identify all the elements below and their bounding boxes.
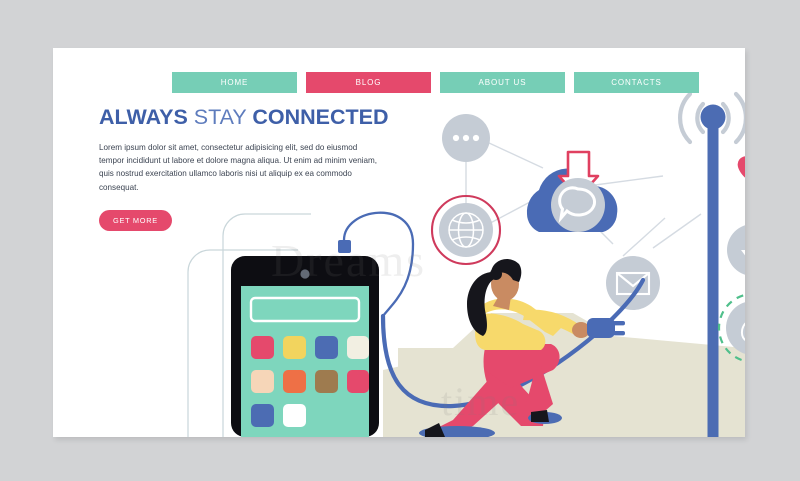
heart-icon [738,156,745,183]
page-title: ALWAYS STAY CONNECTED [99,106,389,129]
nav-item-about-us[interactable]: ABOUT US [440,72,565,93]
get-more-button[interactable]: GET MORE [99,210,172,231]
nav-item-blog[interactable]: BLOG [306,72,431,93]
power-plug-icon [587,318,625,338]
headline-always: ALWAYS [99,105,194,129]
hero-body-text: Lorem ipsum dolor sit amet, consectetur … [99,141,384,193]
smartphone [231,256,379,437]
headline-stay: STAY [194,105,253,129]
headline-connected: CONNECTED [252,105,388,129]
envelope-icon [606,256,660,310]
dots-icon [442,114,490,162]
user-download-icon [727,224,745,276]
ground-shape [383,313,745,437]
nav-item-home[interactable]: HOME [172,72,297,93]
svg-text:@: @ [739,314,745,345]
hero-section: ALWAYS STAY CONNECTED Lorem ipsum dolor … [99,106,389,231]
landing-page-card: @ [53,48,745,437]
main-navigation: HOME BLOG ABOUT US CONTACTS [172,72,699,93]
globe-icon [432,196,500,264]
chat-bubble-icon [551,178,605,232]
nav-item-contacts[interactable]: CONTACTS [574,72,699,93]
